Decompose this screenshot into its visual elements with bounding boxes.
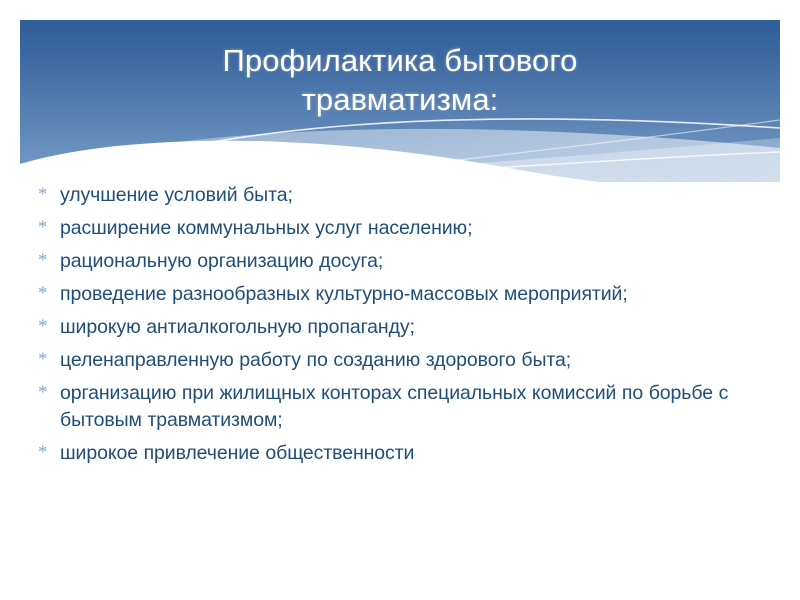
header-wave-decoration	[20, 20, 780, 182]
list-item-text: проведение разнообразных культурно-массо…	[60, 281, 770, 308]
asterisk-bullet-icon: *	[34, 182, 60, 208]
asterisk-bullet-icon: *	[34, 314, 60, 340]
asterisk-bullet-icon: *	[34, 215, 60, 241]
presentation-slide: Профилактика бытового травматизма: * улу…	[0, 0, 800, 600]
list-item: * организацию при жилищных конторах спец…	[34, 380, 770, 434]
list-item: * улучшение условий быта;	[34, 182, 770, 209]
asterisk-bullet-icon: *	[34, 281, 60, 307]
list-item-text: организацию при жилищных конторах специа…	[60, 380, 770, 434]
list-item: * широкое привлечение общественности	[34, 440, 770, 467]
asterisk-bullet-icon: *	[34, 347, 60, 373]
asterisk-bullet-icon: *	[34, 440, 60, 466]
asterisk-bullet-icon: *	[34, 380, 60, 406]
list-item: * целенаправленную работу по созданию зд…	[34, 347, 770, 374]
list-item-text: расширение коммунальных услуг населению;	[60, 215, 770, 242]
list-item-text: улучшение условий быта;	[60, 182, 770, 209]
list-item: * широкую антиалкогольную пропаганду;	[34, 314, 770, 341]
list-item-text: широкую антиалкогольную пропаганду;	[60, 314, 770, 341]
list-item: * рациональную организацию досуга;	[34, 248, 770, 275]
list-item-text: широкое привлечение общественности	[60, 440, 770, 467]
list-item-text: целенаправленную работу по созданию здор…	[60, 347, 770, 374]
list-item: * расширение коммунальных услуг населени…	[34, 215, 770, 242]
list-item: * проведение разнообразных культурно-мас…	[34, 281, 770, 308]
slide-bullet-list: * улучшение условий быта; * расширение к…	[34, 182, 770, 473]
list-item-text: рациональную организацию досуга;	[60, 248, 770, 275]
slide-header-banner	[20, 20, 780, 182]
asterisk-bullet-icon: *	[34, 248, 60, 274]
